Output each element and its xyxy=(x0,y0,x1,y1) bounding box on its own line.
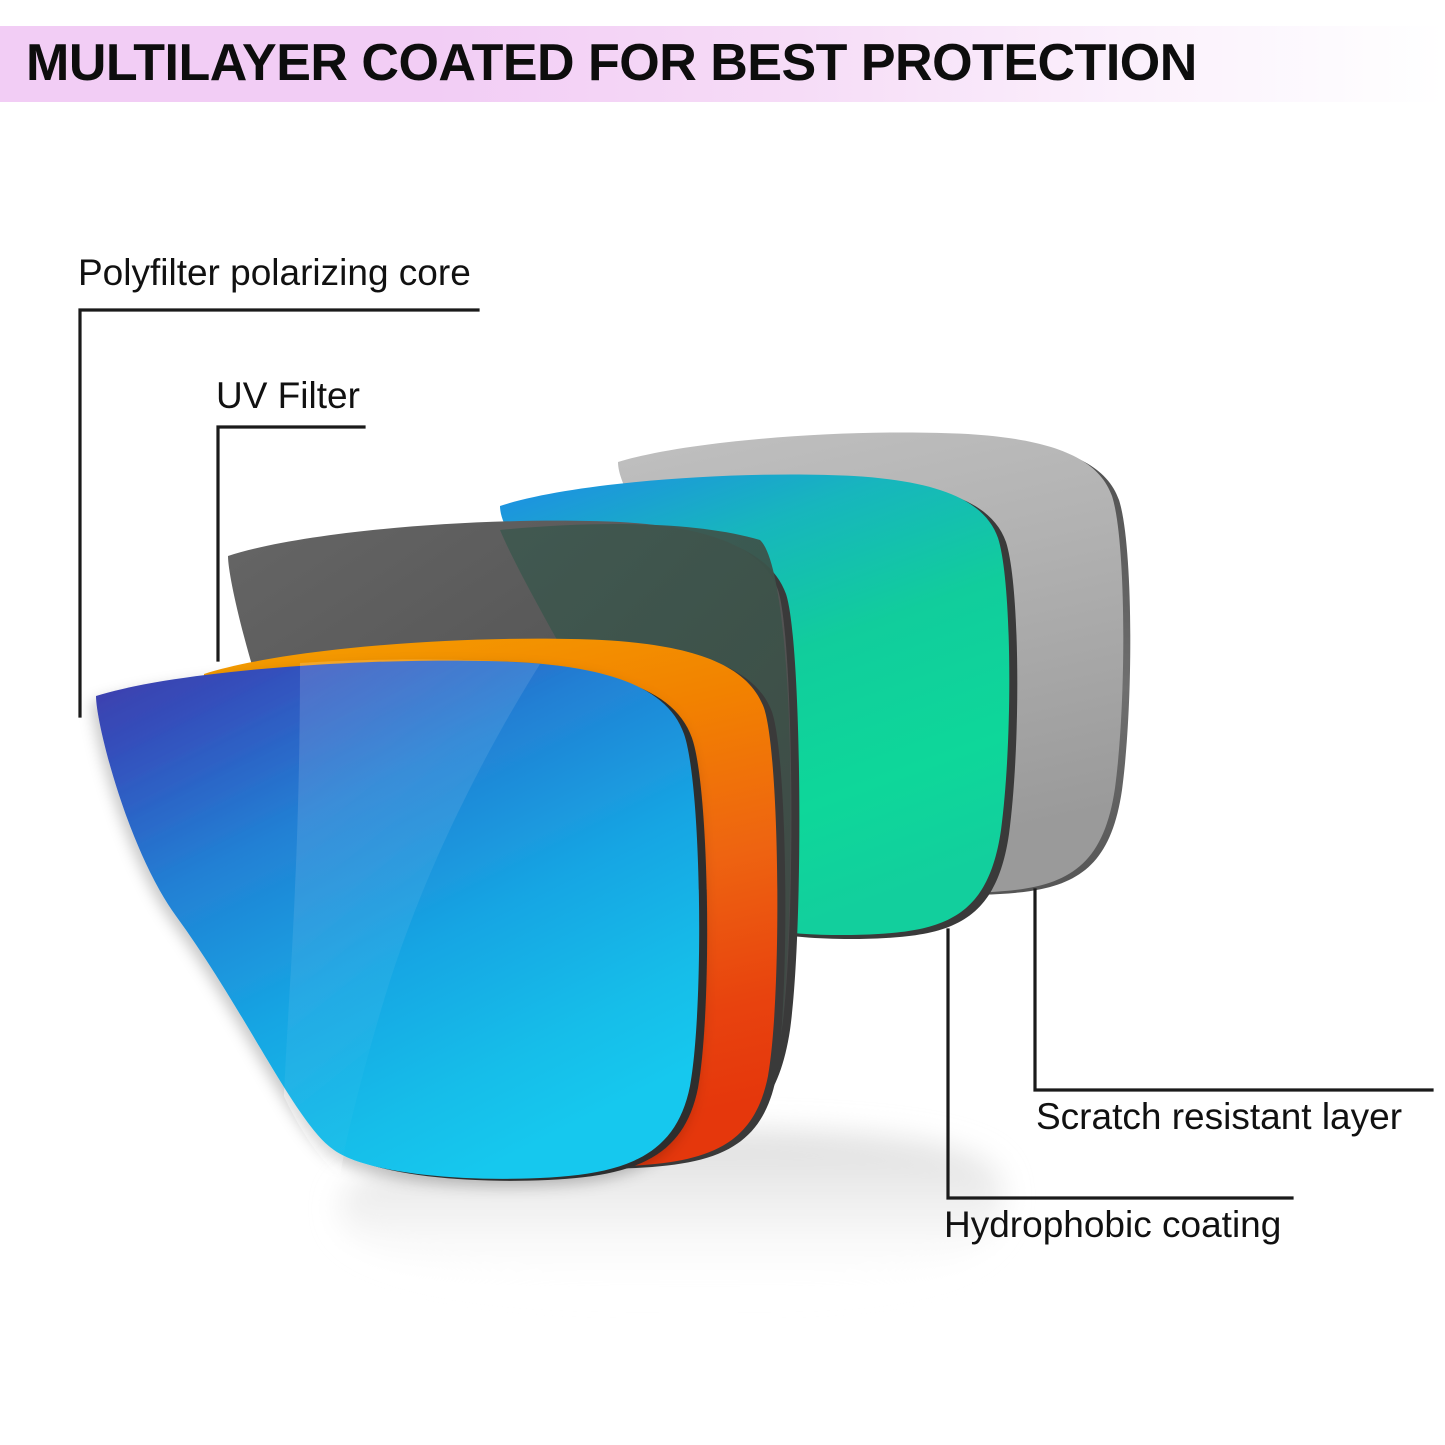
infographic-page: MULTILAYER COATED FOR BEST PROTECTION xyxy=(0,0,1445,1445)
callout-label-polyfilter: Polyfilter polarizing core xyxy=(78,252,471,294)
lens-layer-front-blue xyxy=(96,659,707,1180)
callout-label-scratch-resistant: Scratch resistant layer xyxy=(1036,1096,1402,1138)
callout-label-hydrophobic: Hydrophobic coating xyxy=(944,1204,1281,1246)
callout-label-uv-filter: UV Filter xyxy=(216,375,360,417)
